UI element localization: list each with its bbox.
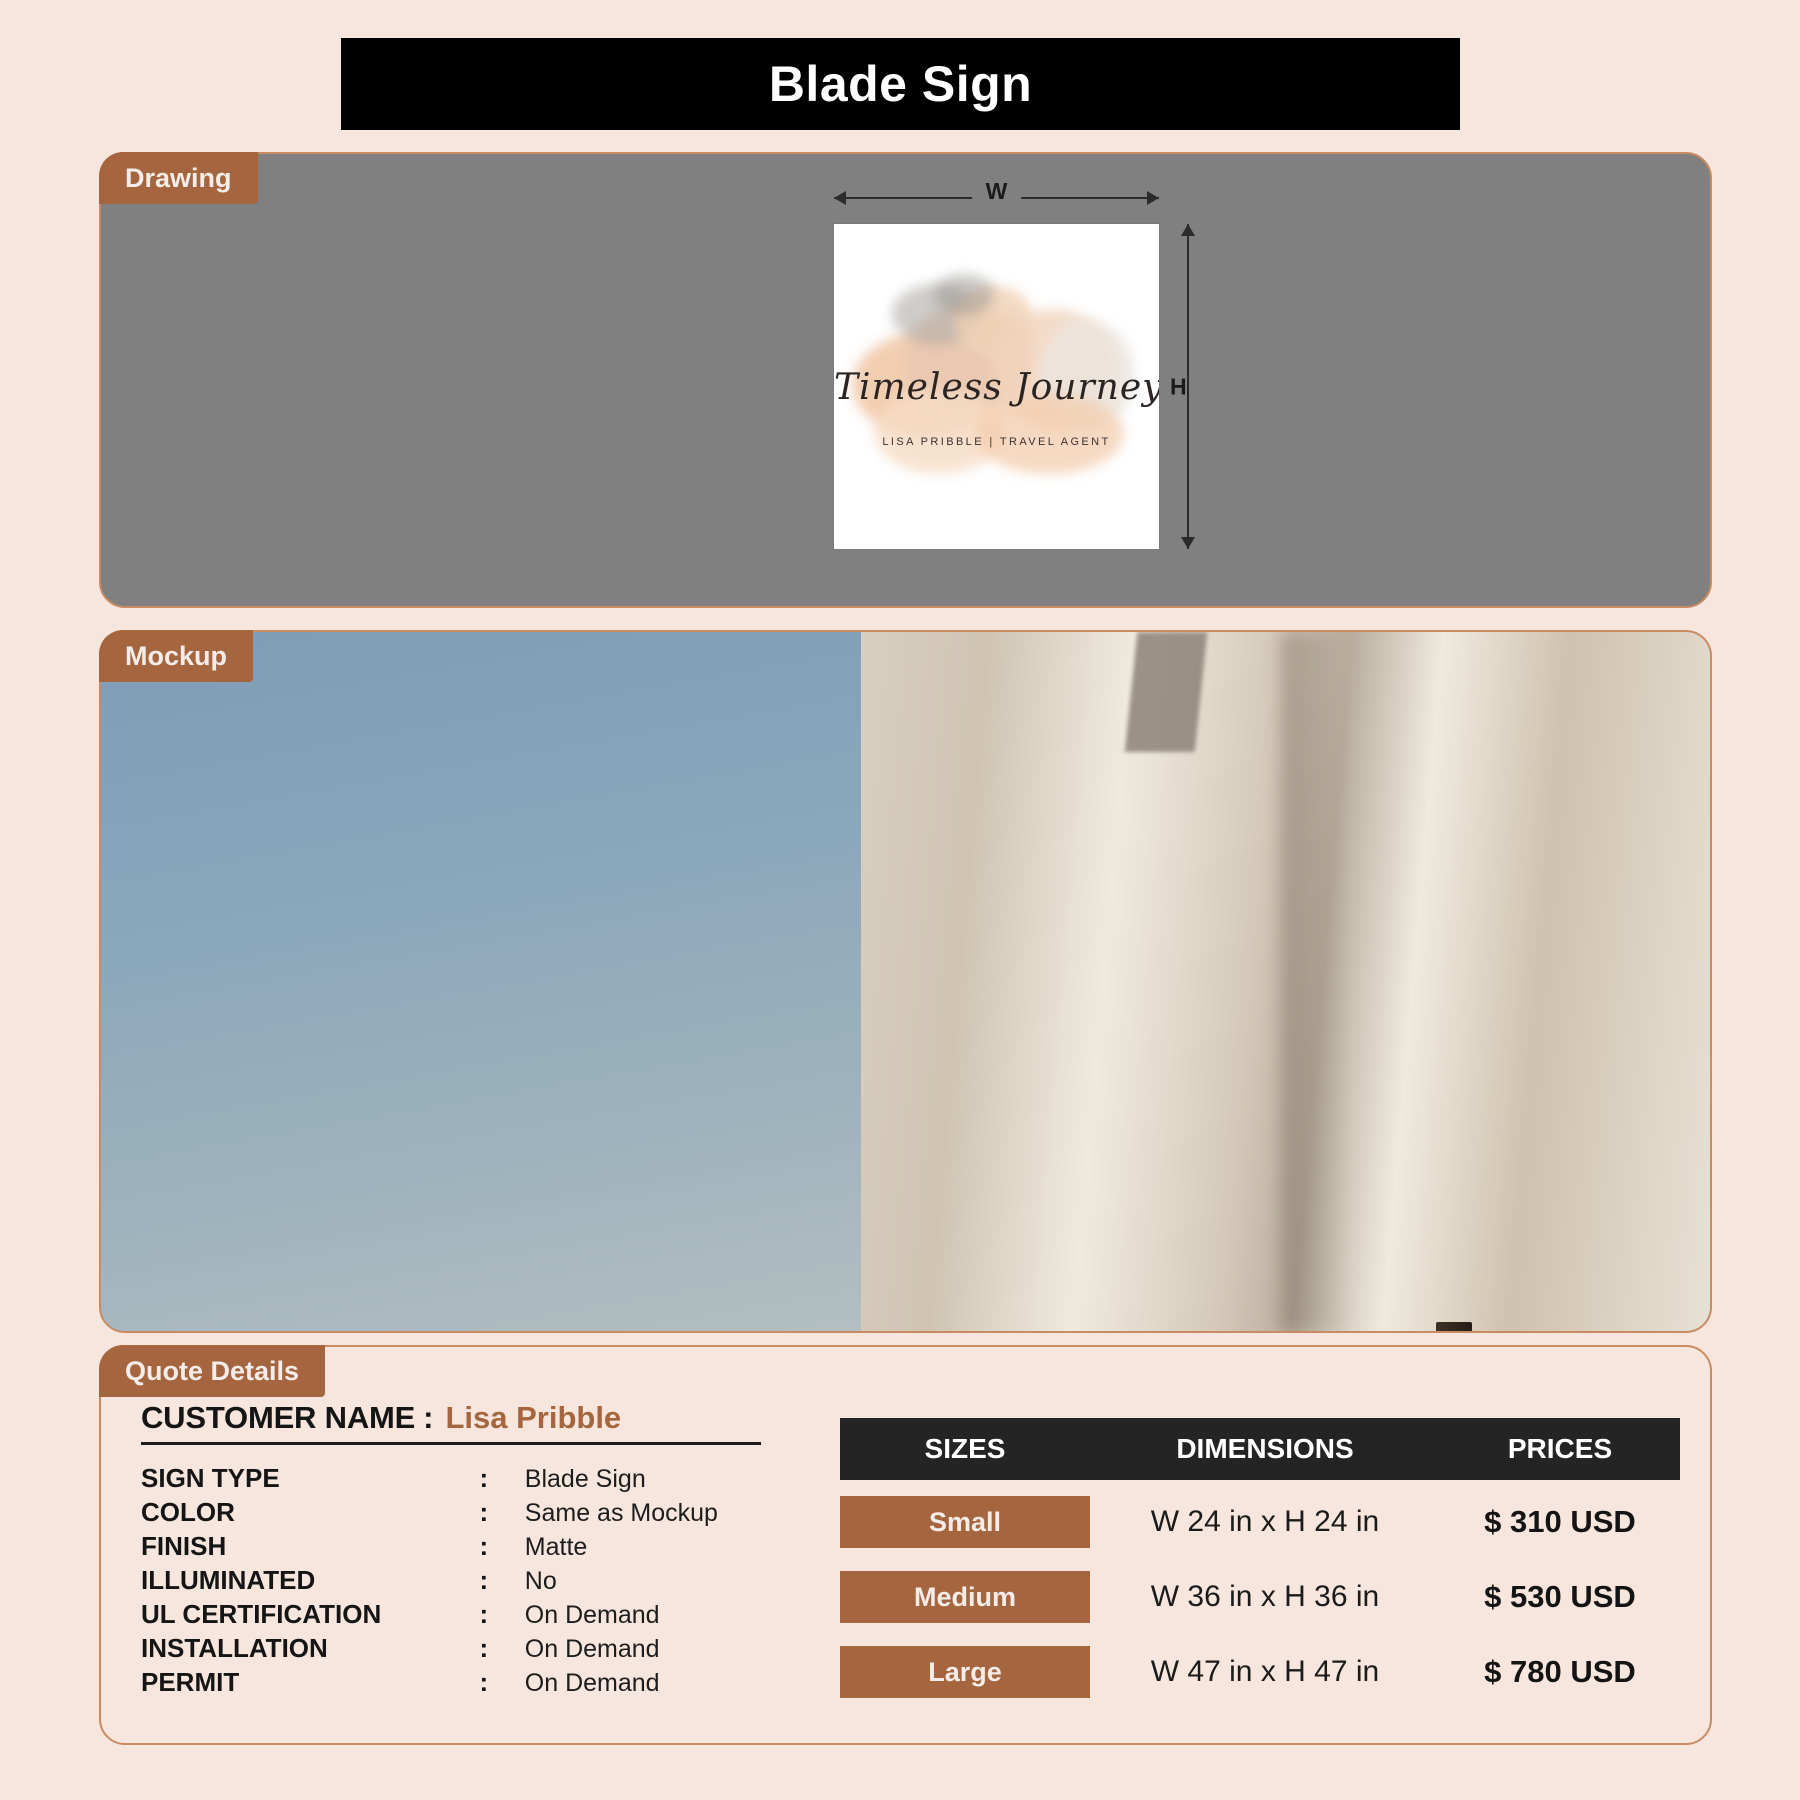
spec-value: Same as Mockup <box>507 1495 783 1529</box>
height-dimension-label: H <box>1170 359 1187 414</box>
roof-edge <box>1125 632 1208 752</box>
column-header-sizes: SIZES <box>840 1433 1090 1465</box>
divider <box>141 1442 761 1445</box>
width-dimension-label: W <box>972 178 1022 205</box>
price-value: $ 310 USD <box>1440 1504 1680 1540</box>
spec-key: UL CERTIFICATION <box>123 1597 461 1631</box>
arrow-left-icon <box>834 191 846 205</box>
column-header-prices: PRICES <box>1440 1433 1680 1465</box>
spec-key: FINISH <box>123 1529 461 1563</box>
customer-name-value: Lisa Pribble <box>445 1400 621 1436</box>
height-dimension-line <box>1187 224 1189 549</box>
drawing-panel: W H Timeless Jour <box>99 152 1712 608</box>
customer-name-label: CUSTOMER NAME <box>141 1400 415 1436</box>
arrow-down-icon <box>1181 537 1195 549</box>
spec-value: On Demand <box>507 1597 783 1631</box>
spec-value: On Demand <box>507 1665 783 1699</box>
spec-colon: : <box>461 1597 507 1631</box>
customer-name-colon: : <box>423 1400 433 1436</box>
table-row: PERMIT : On Demand <box>123 1665 783 1699</box>
mockup-section-label: Mockup <box>125 641 227 672</box>
table-row: SIGN TYPE : Blade Sign <box>123 1461 783 1495</box>
spec-colon: : <box>461 1563 507 1597</box>
table-row: UL CERTIFICATION : On Demand <box>123 1597 783 1631</box>
price-table: SIZES DIMENSIONS PRICES Small W 24 in x … <box>840 1418 1680 1705</box>
mockup-section-tab: Mockup <box>99 630 253 682</box>
logo-script-text: Timeless Journeys <box>834 367 1159 408</box>
dimensions-value: W 36 in x H 36 in <box>1090 1580 1440 1614</box>
arrow-right-icon <box>1147 191 1159 205</box>
spec-colon: : <box>461 1461 507 1495</box>
spec-colon: : <box>461 1631 507 1665</box>
spec-key: SIGN TYPE <box>123 1461 461 1495</box>
arrow-up-icon <box>1181 224 1195 236</box>
spec-key: ILLUMINATED <box>123 1563 461 1597</box>
quote-sheet: Blade Sign W H <box>0 0 1800 1800</box>
page-title: Blade Sign <box>341 38 1460 130</box>
dimensions-value: W 47 in x H 47 in <box>1090 1655 1440 1689</box>
table-row: INSTALLATION : On Demand <box>123 1631 783 1665</box>
drawing-section-tab: Drawing <box>99 152 258 204</box>
spec-value: Blade Sign <box>507 1461 783 1495</box>
size-badge: Medium <box>840 1571 1090 1623</box>
width-dimension-arrow: W <box>834 186 1159 210</box>
quote-details-tab: Quote Details <box>99 1345 325 1397</box>
page-title-text: Blade Sign <box>769 55 1032 113</box>
logo-subtitle: LISA PRIBBLE | TRAVEL AGENT <box>834 436 1159 448</box>
height-dimension-arrow: H <box>1176 224 1200 549</box>
wall-bracket <box>1436 1322 1472 1331</box>
mockup-scene: Timeless Journeys LISA PRIBBLE | TRAVEL … <box>101 632 1710 1331</box>
price-row-large: Large W 47 in x H 47 in $ 780 USD <box>840 1639 1680 1705</box>
table-row: FINISH : Matte <box>123 1529 783 1563</box>
drawing-section-label: Drawing <box>125 163 232 194</box>
spec-key: INSTALLATION <box>123 1631 461 1665</box>
customer-name-row: CUSTOMER NAME : Lisa Pribble <box>123 1400 783 1436</box>
facade-shadow <box>1281 632 1351 1331</box>
price-row-small: Small W 24 in x H 24 in $ 310 USD <box>840 1489 1680 1555</box>
sky-background <box>101 632 881 1331</box>
quote-details-label: Quote Details <box>125 1356 299 1387</box>
dimensions-value: W 24 in x H 24 in <box>1090 1505 1440 1539</box>
price-table-header: SIZES DIMENSIONS PRICES <box>840 1418 1680 1480</box>
size-badge: Large <box>840 1646 1090 1698</box>
drawing-sign-face: Timeless Journeys LISA PRIBBLE | TRAVEL … <box>834 224 1159 549</box>
size-badge: Small <box>840 1496 1090 1548</box>
table-row: COLOR : Same as Mockup <box>123 1495 783 1529</box>
spec-colon: : <box>461 1665 507 1699</box>
logo-artwork: Timeless Journeys LISA PRIBBLE | TRAVEL … <box>834 224 1159 549</box>
spec-colon: : <box>461 1529 507 1563</box>
price-value: $ 780 USD <box>1440 1654 1680 1690</box>
spec-value: On Demand <box>507 1631 783 1665</box>
column-header-dimensions: DIMENSIONS <box>1090 1433 1440 1465</box>
table-row: ILLUMINATED : No <box>123 1563 783 1597</box>
spec-value: No <box>507 1563 783 1597</box>
spec-key: PERMIT <box>123 1665 461 1699</box>
mockup-panel: Timeless Journeys LISA PRIBBLE | TRAVEL … <box>99 630 1712 1333</box>
spec-table: SIGN TYPE : Blade Sign COLOR : Same as M… <box>123 1461 783 1699</box>
price-value: $ 530 USD <box>1440 1579 1680 1615</box>
price-row-medium: Medium W 36 in x H 36 in $ 530 USD <box>840 1564 1680 1630</box>
drawing-stage: W H Timeless Jour <box>101 154 1710 606</box>
specifications-list: CUSTOMER NAME : Lisa Pribble SIGN TYPE :… <box>123 1400 783 1699</box>
spec-value: Matte <box>507 1529 783 1563</box>
spec-key: COLOR <box>123 1495 461 1529</box>
spec-colon: : <box>461 1495 507 1529</box>
